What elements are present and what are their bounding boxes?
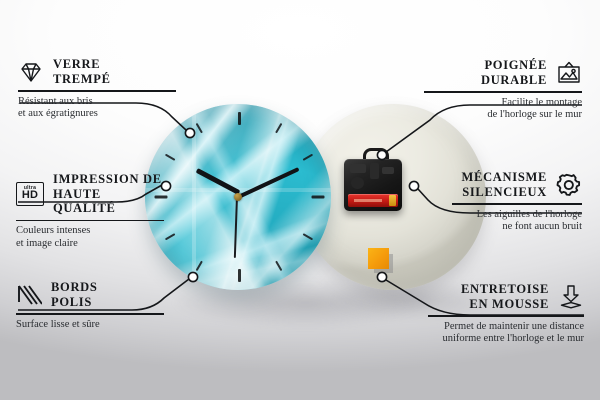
callout-title: MÉCANISME SILENCIEUX [462, 170, 547, 199]
polished-edges-icon [16, 282, 42, 308]
callout-entretoise-en-mousse: ENTRETOISE EN MOUSSE Permet de maintenir… [428, 282, 584, 346]
product-feature-infographic: VERRE TREMPÉ Résistant aux bris et aux é… [0, 0, 600, 400]
mechanism-detail [370, 163, 379, 179]
callout-rule [16, 313, 164, 315]
callout-rule [428, 315, 584, 317]
clock-front-face [145, 104, 331, 290]
battery-cap [389, 195, 396, 206]
callout-rule [452, 203, 582, 205]
gear-icon [556, 172, 582, 198]
callout-subtitle: Facilite le montage de l'horloge sur le … [422, 97, 582, 122]
callout-impression-haute-qualite: ultra HD IMPRESSION DE HAUTE QUALITÉ Cou… [16, 172, 166, 250]
callout-header: MÉCANISME SILENCIEUX [452, 170, 582, 199]
clock-center-cap [234, 193, 242, 201]
clock-tick [312, 196, 325, 199]
callout-subtitle: Permet de maintenir une distance uniform… [428, 321, 584, 346]
mechanism-housing [344, 159, 402, 211]
callout-title: IMPRESSION DE HAUTE QUALITÉ [53, 172, 166, 216]
foam-spacer [368, 248, 389, 269]
callout-subtitle: Résistant aux bris et aux égratignures [18, 96, 178, 121]
callout-title: VERRE TREMPÉ [53, 57, 111, 86]
clock-tick [238, 269, 241, 282]
clock-mechanism [344, 156, 402, 214]
picture-hanger-icon [556, 60, 582, 86]
callout-title: ENTRETOISE EN MOUSSE [461, 282, 549, 311]
mechanism-detail [350, 164, 366, 173]
callout-header: ultra HD IMPRESSION DE HAUTE QUALITÉ [16, 172, 166, 216]
diamond-icon [18, 59, 44, 85]
callout-title: BORDS POLIS [51, 280, 98, 309]
callout-subtitle: Surface lisse et sûre [16, 319, 166, 332]
callout-header: POIGNÉE DURABLE [422, 58, 582, 87]
callout-header: BORDS POLIS [16, 280, 166, 309]
callout-header: ENTRETOISE EN MOUSSE [428, 282, 584, 311]
callout-rule [16, 220, 164, 222]
mechanism-detail [351, 177, 364, 189]
callout-mecanisme-silencieux: MÉCANISME SILENCIEUX Les aiguilles de l'… [452, 170, 582, 234]
callout-title: POIGNÉE DURABLE [481, 58, 547, 87]
clock-tick [238, 112, 241, 125]
ultra-hd-icon-large-text: HD [22, 190, 38, 201]
ultra-hd-icon: ultra HD [16, 182, 44, 206]
callout-header: VERRE TREMPÉ [18, 57, 178, 86]
callout-bords-polis: BORDS POLIS Surface lisse et sûre [16, 280, 166, 331]
callout-rule [424, 91, 582, 93]
callout-subtitle: Les aiguilles de l'horloge ne font aucun… [452, 209, 582, 234]
battery [348, 194, 398, 207]
battery-stripe [354, 199, 382, 202]
foam-spacer-icon [558, 284, 584, 310]
callout-subtitle: Couleurs intenses et image claire [16, 225, 166, 250]
callout-poignee-durable: POIGNÉE DURABLE Facilite le montage de l… [422, 58, 582, 122]
mechanism-detail [382, 167, 394, 174]
callout-verre-trempe: VERRE TREMPÉ Résistant aux bris et aux é… [18, 57, 178, 121]
callout-rule [18, 90, 176, 92]
